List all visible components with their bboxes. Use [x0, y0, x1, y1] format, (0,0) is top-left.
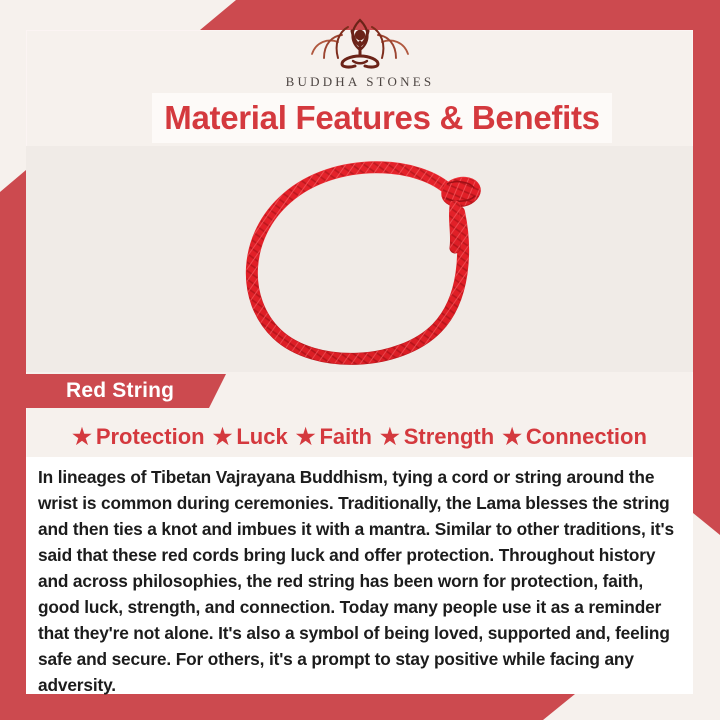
benefit-item: ★ Luck [209, 424, 292, 450]
brand-logo: BUDDHA STONES [0, 14, 720, 90]
product-ribbon-label: Red String [26, 374, 226, 408]
description-text: In lineages of Tibetan Vajrayana Buddhis… [38, 464, 679, 698]
benefit-item: ★ Connection [498, 424, 651, 450]
benefit-item: ★ Faith [292, 424, 376, 450]
brand-name: BUDDHA STONES [0, 74, 720, 90]
benefit-label: Connection [526, 424, 647, 450]
benefit-label: Faith [319, 424, 372, 450]
page-title-banner: Material Features & Benefits [152, 93, 612, 143]
star-icon: ★ [72, 426, 92, 448]
star-icon: ★ [296, 426, 316, 448]
benefit-label: Protection [96, 424, 205, 450]
poster-root: BUDDHA STONES Material Features & Benefi… [0, 0, 720, 720]
product-image-stage [26, 146, 693, 372]
benefit-label: Strength [404, 424, 494, 450]
lotus-meditation-icon [0, 14, 720, 72]
benefit-label: Luck [236, 424, 287, 450]
benefit-item: ★ Protection [68, 424, 209, 450]
benefit-item: ★ Strength [376, 424, 498, 450]
benefits-row: ★ Protection ★ Luck ★ Faith ★ Strength ★… [26, 419, 693, 455]
description-block: In lineages of Tibetan Vajrayana Buddhis… [26, 457, 693, 694]
star-icon: ★ [502, 426, 522, 448]
star-icon: ★ [380, 426, 400, 448]
frame-bar-left [0, 170, 26, 705]
ribbon-text: Red String [66, 379, 174, 403]
frame-bar-right [693, 30, 720, 535]
brand-header: BUDDHA STONES [0, 0, 720, 95]
page-title: Material Features & Benefits [164, 99, 599, 137]
star-icon: ★ [213, 426, 233, 448]
